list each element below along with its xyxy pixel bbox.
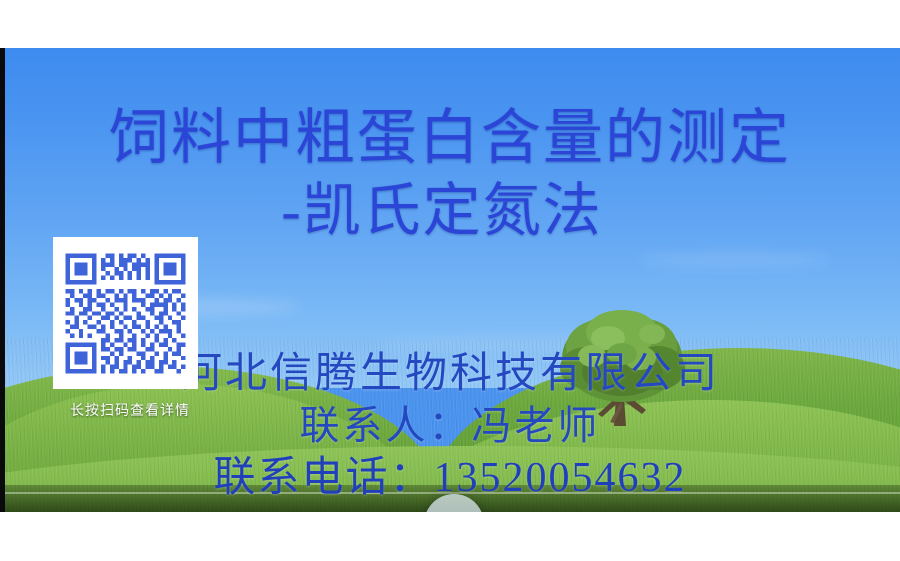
- cloud-wisp: [640, 253, 830, 267]
- qr-caption: 长按扫码查看详情: [40, 400, 220, 420]
- screenshot-root: 饲料中粗蛋白含量的测定 -凯氏定氮法: [0, 0, 900, 561]
- title-line-2: -凯氏定氮法: [0, 176, 900, 246]
- left-letterbox-bar: [0, 48, 5, 512]
- title-line-1: 饲料中粗蛋白含量的测定: [0, 100, 900, 176]
- video-title: 饲料中粗蛋白含量的测定 -凯氏定氮法: [0, 100, 900, 246]
- video-player[interactable]: 饲料中粗蛋白含量的测定 -凯氏定氮法: [0, 48, 900, 512]
- qr-code-panel[interactable]: [53, 237, 198, 389]
- qr-code-icon: [61, 249, 190, 378]
